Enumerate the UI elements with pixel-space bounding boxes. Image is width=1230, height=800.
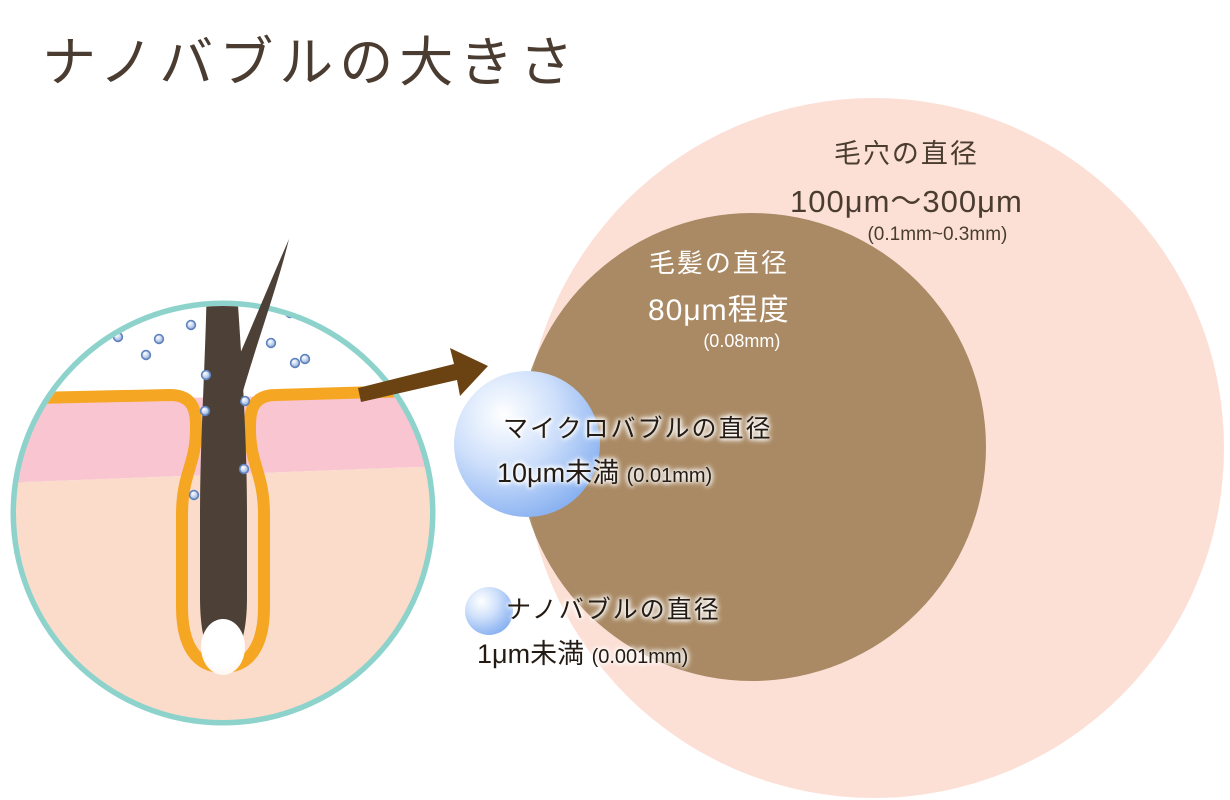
hair-label-value-mm: (0.08mm) bbox=[694, 331, 790, 352]
infographic-canvas: ナノバブルの大きさ bbox=[0, 0, 1230, 800]
pore-label: 毛穴の直径 100μm〜300μm (0.1mm~0.3mm) bbox=[790, 132, 1023, 246]
pore-label-value: 100μm〜300μm bbox=[790, 176, 1023, 221]
pore-label-name: 毛穴の直径 bbox=[790, 132, 1023, 171]
microbubble-label: マイクロバブルの直径 10μm未満 (0.01mm) bbox=[503, 409, 773, 490]
nanobubble-label: ナノバブルの直径 1μm未満 (0.001mm) bbox=[506, 590, 721, 671]
size-comparison-circles: 毛穴の直径 100μm〜300μm (0.1mm~0.3mm) 毛髪の直径 80… bbox=[0, 0, 1230, 800]
microbubble-label-value-mm: (0.01mm) bbox=[627, 465, 713, 487]
hair-label-name: 毛髪の直径 bbox=[648, 243, 790, 280]
microbubble-label-value-line: 10μm未満 (0.01mm) bbox=[497, 451, 773, 490]
pore-label-value-mm: (0.1mm~0.3mm) bbox=[852, 224, 1023, 246]
nanobubble-label-value-mm: (0.001mm) bbox=[592, 646, 689, 668]
nanobubble-label-value-line: 1μm未満 (0.001mm) bbox=[477, 632, 721, 671]
nanobubble-label-name: ナノバブルの直径 bbox=[506, 590, 721, 626]
nanobubble-label-value: 1μm未満 bbox=[477, 639, 584, 669]
hair-label: 毛髪の直径 80μm程度 (0.08mm) bbox=[648, 243, 790, 352]
hair-label-value: 80μm程度 bbox=[648, 285, 790, 329]
microbubble-label-value: 10μm未満 bbox=[497, 458, 619, 488]
microbubble-label-name: マイクロバブルの直径 bbox=[503, 409, 773, 445]
